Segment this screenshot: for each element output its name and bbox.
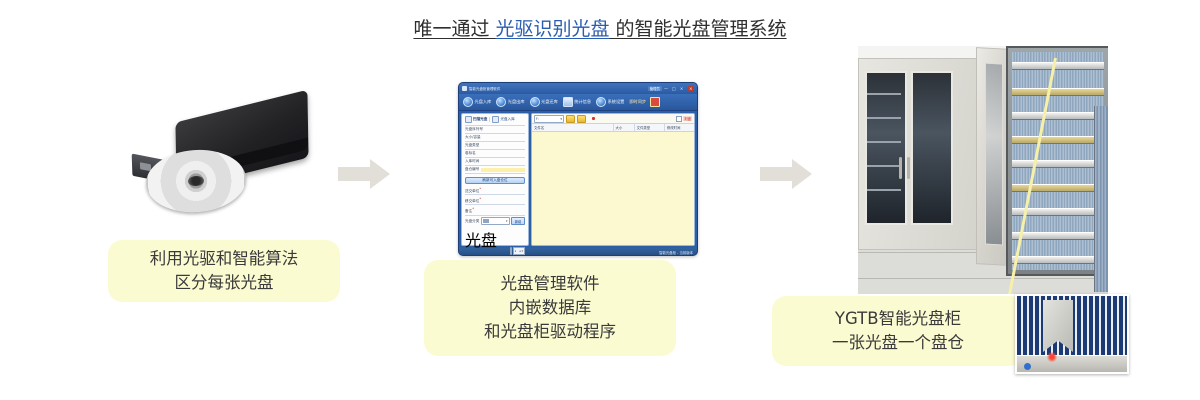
tab-disc-in[interactable]: 光盘入库 xyxy=(492,116,514,123)
arrow-drive-to-software xyxy=(338,159,392,189)
arrow-head xyxy=(792,159,812,189)
burn-label: 刻盘 xyxy=(683,116,692,121)
disc-progress-row: 光盘进度 1 ⏶⏷ xyxy=(465,227,525,256)
floor-tile-line xyxy=(858,278,1108,279)
toolbar-button-label: 光盘还库 xyxy=(541,99,558,105)
file-browser-toolbar: F: ▾ 刻盘 xyxy=(532,114,694,124)
cabinet-handle xyxy=(907,157,910,179)
toolbar-button-disc-return[interactable]: 光盘还库 xyxy=(528,96,560,108)
column-header-size[interactable]: 大小 xyxy=(614,124,635,131)
field-label: 光盘分类 xyxy=(465,219,479,224)
caption-line: 内嵌数据库 xyxy=(509,296,592,320)
disc-cabinet-photo xyxy=(858,46,1108,294)
window-toolbar: 光盘入库 光盘出库 光盘还库 统计信息 系统设置 即时同步 xyxy=(459,94,697,111)
disc-category-row: 光盘分类 ▾ 新增 xyxy=(465,217,525,225)
slot-shelf-bar xyxy=(1012,88,1104,96)
field-submitting-unit[interactable]: 送交单位 xyxy=(465,187,525,196)
slot-base-rail xyxy=(1017,355,1127,372)
field-value[interactable] xyxy=(481,160,525,164)
field-remark[interactable]: 备注 xyxy=(465,207,525,216)
caption-line: 利用光驱和智能算法 xyxy=(150,247,299,271)
page-title-highlight: 光驱识别光盘 xyxy=(495,18,609,40)
quantity-stepper[interactable]: 1 ⏶⏷ xyxy=(513,247,525,255)
window-titlebar: 智能光盘柜管理软件 管理员 — □ × × xyxy=(459,83,697,94)
toolbar-button-label: 即时同步 xyxy=(629,99,646,105)
folder-open-icon[interactable] xyxy=(577,115,586,123)
add-category-button[interactable]: 新增 xyxy=(511,217,525,225)
toolbar-button-settings[interactable]: 系统设置 xyxy=(594,96,626,108)
tab-label: 光盘入库 xyxy=(500,117,514,122)
open-cabinet-door xyxy=(976,47,1010,266)
disc-slot-closeup-inset xyxy=(1015,294,1129,374)
burn-option[interactable]: 刻盘 xyxy=(676,116,692,122)
field-value[interactable] xyxy=(483,200,525,204)
closed-cabinet xyxy=(858,58,978,250)
field-value[interactable] xyxy=(481,144,525,148)
cabinet-shelf xyxy=(867,189,901,191)
toolbar-button-stats[interactable]: 统计信息 xyxy=(561,96,593,108)
field-volume-label[interactable]: 卷标名 xyxy=(465,151,525,158)
scan-icon xyxy=(465,116,472,123)
disc-category-select[interactable]: ▾ xyxy=(481,217,510,225)
cabinet-side-slot-column xyxy=(1094,106,1108,292)
caption-line: 区分每张光盘 xyxy=(175,271,274,295)
field-value-highlighted[interactable] xyxy=(481,168,525,172)
disc-out-icon xyxy=(496,97,506,107)
field-disc-type[interactable]: 光盘类型 xyxy=(465,143,525,150)
record-dot-icon[interactable] xyxy=(592,117,595,120)
arrow-software-to-cabinet xyxy=(760,159,814,189)
slot-shelf-bar xyxy=(1012,160,1104,168)
chevron-down-icon: ▾ xyxy=(506,219,508,223)
field-label: 卷标名 xyxy=(465,151,476,156)
infographic-canvas: 唯一通过 光驱识别光盘 的智能光盘管理系统 利用光驱和智能算法 区分每张光盘 智… xyxy=(0,0,1200,400)
column-header-filetype[interactable]: 文件类型 xyxy=(635,124,665,131)
slot-shelf-bar xyxy=(1012,184,1104,192)
caption-line: 光盘管理软件 xyxy=(501,272,600,296)
caption-stage-2: 光盘管理软件 内嵌数据库 和光盘柜驱动程序 xyxy=(424,260,676,356)
burn-checkbox[interactable] xyxy=(676,116,682,122)
disc-in-icon xyxy=(492,116,499,123)
drive-select-value: F: xyxy=(536,117,539,121)
tab-scan-disc[interactable]: 扫描光盘 xyxy=(465,116,487,123)
chevron-down-icon: ▾ xyxy=(560,117,562,121)
field-capacity[interactable]: 大小/容量 xyxy=(465,135,525,142)
cabinet-shelf xyxy=(867,117,901,119)
sync-status-icon[interactable] xyxy=(650,97,660,107)
toolbar-button-disc-in[interactable]: 光盘入库 xyxy=(461,96,493,108)
file-browser-panel: F: ▾ 刻盘 文件名 大小 文件类型 修改时间 xyxy=(531,113,695,246)
caption-stage-1: 利用光驱和智能算法 区分每张光盘 xyxy=(108,240,340,302)
drive-select[interactable]: F: ▾ xyxy=(534,115,564,123)
slot-shelf-bar xyxy=(1012,232,1104,240)
door-glass-pane xyxy=(985,63,1003,246)
caption-line: 和光盘柜驱动程序 xyxy=(484,320,616,344)
sidebar-panel: 扫描光盘 光盘入库 光盘序列号 大小/容量 光盘 xyxy=(461,113,529,246)
stats-icon xyxy=(563,97,573,107)
window-client-area: 扫描光盘 光盘入库 光盘序列号 大小/容量 光盘 xyxy=(459,111,697,248)
folder-icon[interactable] xyxy=(566,115,575,123)
slot-shelf-bar xyxy=(1012,256,1104,264)
page-title-suffix: 的智能光盘管理系统 xyxy=(610,18,787,40)
field-label: 盘仓编号 xyxy=(465,167,479,172)
disc-icon xyxy=(462,86,467,91)
close-icon[interactable]: × xyxy=(688,86,694,91)
slot-shelf-bar xyxy=(1012,112,1104,120)
refresh-slots-button[interactable]: 刷新可入盘仓位 xyxy=(465,177,525,184)
field-value[interactable] xyxy=(485,128,525,132)
window-title: 智能光盘柜管理软件 xyxy=(469,86,500,91)
red-led-indicator xyxy=(1047,352,1057,362)
toolbar-button-disc-out[interactable]: 光盘出库 xyxy=(494,96,526,108)
disc-in-icon xyxy=(463,97,473,107)
file-list-body[interactable] xyxy=(532,132,694,245)
window-controls[interactable]: — □ × xyxy=(664,86,685,91)
field-label: 光盘进度 xyxy=(465,227,508,256)
caption-line: YGTB智能光盘柜 xyxy=(835,307,961,331)
software-window[interactable]: 智能光盘柜管理软件 管理员 — □ × × 光盘入库 光盘出库 光盘还库 统计信… xyxy=(458,82,698,256)
field-value[interactable] xyxy=(476,210,525,214)
toolbar-button-sync[interactable]: 即时同步 xyxy=(627,98,648,106)
field-serial-number[interactable]: 光盘序列号 xyxy=(465,127,525,134)
disc-sleeve xyxy=(1043,300,1073,352)
slot-shelf-bar xyxy=(1012,136,1104,144)
sidebar-tabs: 扫描光盘 光盘入库 xyxy=(465,116,525,126)
arrow-shaft xyxy=(760,167,794,181)
page-title: 唯一通过 光驱识别光盘 的智能光盘管理系统 xyxy=(0,14,1200,41)
field-label: 移交单位 xyxy=(465,197,481,204)
tab-divider xyxy=(489,117,490,122)
field-label: 送交单位 xyxy=(465,187,481,194)
arrow-head xyxy=(370,159,390,189)
select-value xyxy=(483,219,489,223)
field-label: 光盘类型 xyxy=(465,143,479,148)
field-label: 备注 xyxy=(465,207,474,214)
caption-line: 一张光盘一个盘仓 xyxy=(832,331,964,355)
field-intake-time[interactable]: 入库时间 xyxy=(465,159,525,166)
progress-bar xyxy=(510,247,512,255)
field-transfer-unit[interactable]: 移交单位 xyxy=(465,197,525,206)
stepper-value: 1 xyxy=(515,249,517,253)
tab-label: 扫描光盘 xyxy=(473,117,487,122)
disc-return-icon xyxy=(530,97,540,107)
blue-indicator-dot xyxy=(1024,363,1031,370)
toolbar-button-label: 光盘出库 xyxy=(508,99,525,105)
toolbar-button-label: 系统设置 xyxy=(608,99,625,105)
current-user-badge[interactable]: 管理员 xyxy=(648,86,662,91)
field-value[interactable] xyxy=(483,190,525,194)
field-value[interactable] xyxy=(483,136,525,140)
cabinet-shelf xyxy=(867,165,901,167)
arrow-shaft xyxy=(338,167,372,181)
field-slot-number[interactable]: 盘仓编号 xyxy=(465,167,525,174)
page-title-prefix: 唯一通过 xyxy=(413,18,495,40)
field-label: 大小/容量 xyxy=(465,135,481,140)
cabinet-shelf xyxy=(867,93,901,95)
cabinet-shelf xyxy=(867,141,901,143)
column-header-filename[interactable]: 文件名 xyxy=(532,124,614,131)
field-label: 入库时间 xyxy=(465,159,479,164)
cabinet-handle xyxy=(899,157,902,179)
statusbar-text: 智能光盘柜 - 当前版本 xyxy=(659,250,693,255)
cabinet-glass-panel xyxy=(911,71,953,225)
slot-shelf-bar xyxy=(1012,62,1104,70)
optical-drive-photo xyxy=(128,102,324,232)
toolbar-button-label: 光盘入库 xyxy=(475,99,492,105)
file-list-header: 文件名 大小 文件类型 修改时间 xyxy=(532,124,694,132)
field-value[interactable] xyxy=(478,152,525,156)
gear-icon xyxy=(596,97,606,107)
caption-stage-3: YGTB智能光盘柜 一张光盘一个盘仓 xyxy=(772,296,1024,366)
field-label: 光盘序列号 xyxy=(465,127,483,132)
stepper-arrows[interactable]: ⏶⏷ xyxy=(519,249,523,253)
column-header-modified[interactable]: 修改时间 xyxy=(665,124,694,131)
toolbar-button-label: 统计信息 xyxy=(574,99,591,105)
